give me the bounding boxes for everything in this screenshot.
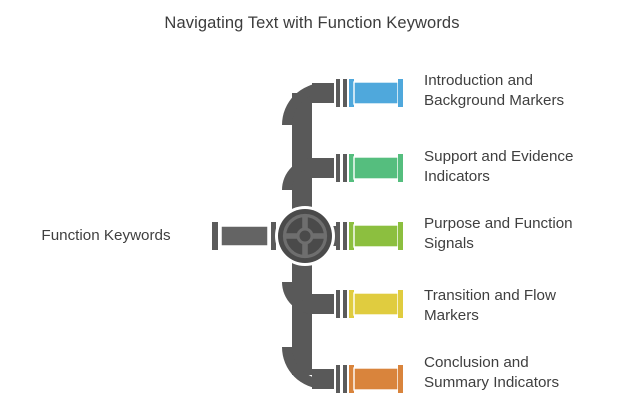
branch-3-flange-b <box>343 290 347 318</box>
branch-2-flange-a <box>336 222 340 250</box>
branch-pipe-1[interactable] <box>336 154 403 182</box>
branch-2-flange-color-right <box>398 222 403 250</box>
valve-wheel-icon[interactable] <box>275 206 335 266</box>
branch-2-flange-color-left <box>349 222 354 250</box>
branch-1-flange-color-left <box>349 154 354 182</box>
branch-0-flange-color-left <box>349 79 354 107</box>
branch-4-flange-a <box>336 365 340 393</box>
branch-3-flange-a <box>336 290 340 318</box>
valve-center-hub <box>298 229 312 243</box>
branch-label-purpose: Purpose and Function Signals <box>424 214 620 254</box>
branch-pipe-4[interactable] <box>336 365 403 393</box>
branch-label-conclusion: Conclusion and Summary Indicators <box>424 353 620 393</box>
branch-4-body <box>354 368 398 390</box>
branch-0-flange-b <box>343 79 347 107</box>
branch-pipe-3[interactable] <box>336 290 403 318</box>
branch-1-body <box>354 157 398 179</box>
branch-2-body <box>354 225 398 247</box>
branch-pipe-0[interactable] <box>336 79 403 107</box>
branch-3-flange-color-left <box>349 290 354 318</box>
branch-0-flange-a <box>336 79 340 107</box>
branch-1-flange-color-right <box>398 154 403 182</box>
branch-label-introduction: Introduction and Background Markers <box>424 71 620 111</box>
elbow-arm-1 <box>312 83 334 103</box>
branch-4-flange-b <box>343 365 347 393</box>
branch-1-flange-a <box>336 154 340 182</box>
elbow-arm-4 <box>308 294 334 314</box>
branch-0-body <box>354 82 398 104</box>
root-pipe-flange-left <box>212 222 218 250</box>
branch-3-body <box>354 293 398 315</box>
branch-label-transition: Transition and Flow Markers <box>424 286 620 326</box>
root-node-label: Function Keywords <box>14 226 198 246</box>
elbow-arm-5 <box>312 369 334 389</box>
diagram-canvas: Navigating Text with Function Keywords <box>0 0 624 415</box>
branch-pipe-2[interactable] <box>336 222 403 250</box>
elbow-arm-2 <box>308 158 334 178</box>
branch-4-flange-color-left <box>349 365 354 393</box>
branch-3-flange-color-right <box>398 290 403 318</box>
branch-4-flange-color-right <box>398 365 403 393</box>
branch-1-flange-b <box>343 154 347 182</box>
branch-0-flange-color-right <box>398 79 403 107</box>
root-pipe-body <box>221 226 268 246</box>
branch-2-flange-b <box>343 222 347 250</box>
branch-label-support: Support and Evidence Indicators <box>424 147 620 187</box>
